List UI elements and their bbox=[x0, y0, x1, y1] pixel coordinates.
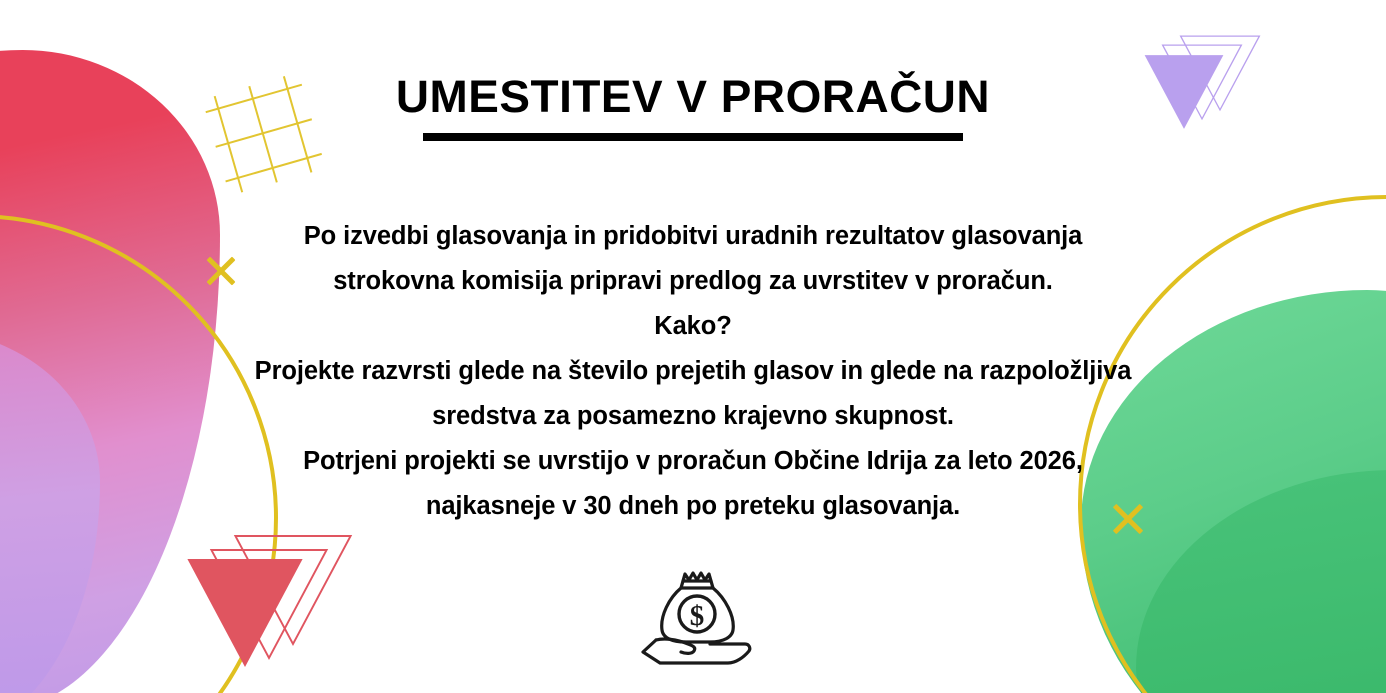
body-line: Potrjeni projekti se uvrstijo v proračun… bbox=[193, 439, 1193, 484]
body-line: Projekte razvrsti glede na število preje… bbox=[193, 349, 1193, 394]
body-paragraph: Po izvedbi glasovanja in pridobitvi urad… bbox=[193, 214, 1193, 529]
body-line: najkasneje v 30 dneh po preteku glasovan… bbox=[193, 484, 1193, 529]
body-line: sredstva za posamezno krajevno skupnost. bbox=[193, 394, 1193, 439]
title-block: UMESTITEV V PRORAČUN bbox=[0, 74, 1386, 141]
body-line: Kako? bbox=[193, 304, 1193, 349]
page-title: UMESTITEV V PRORAČUN bbox=[0, 74, 1386, 119]
body-line: strokovna komisija pripravi predlog za u… bbox=[193, 259, 1193, 304]
money-bag-in-hand-icon: $ bbox=[636, 560, 766, 665]
title-underline bbox=[423, 133, 963, 141]
svg-text:$: $ bbox=[690, 600, 705, 632]
poster-canvas: UMESTITEV V PRORAČUN Po izvedbi glasovan… bbox=[0, 0, 1386, 693]
body-line: Po izvedbi glasovanja in pridobitvi urad… bbox=[193, 214, 1193, 259]
